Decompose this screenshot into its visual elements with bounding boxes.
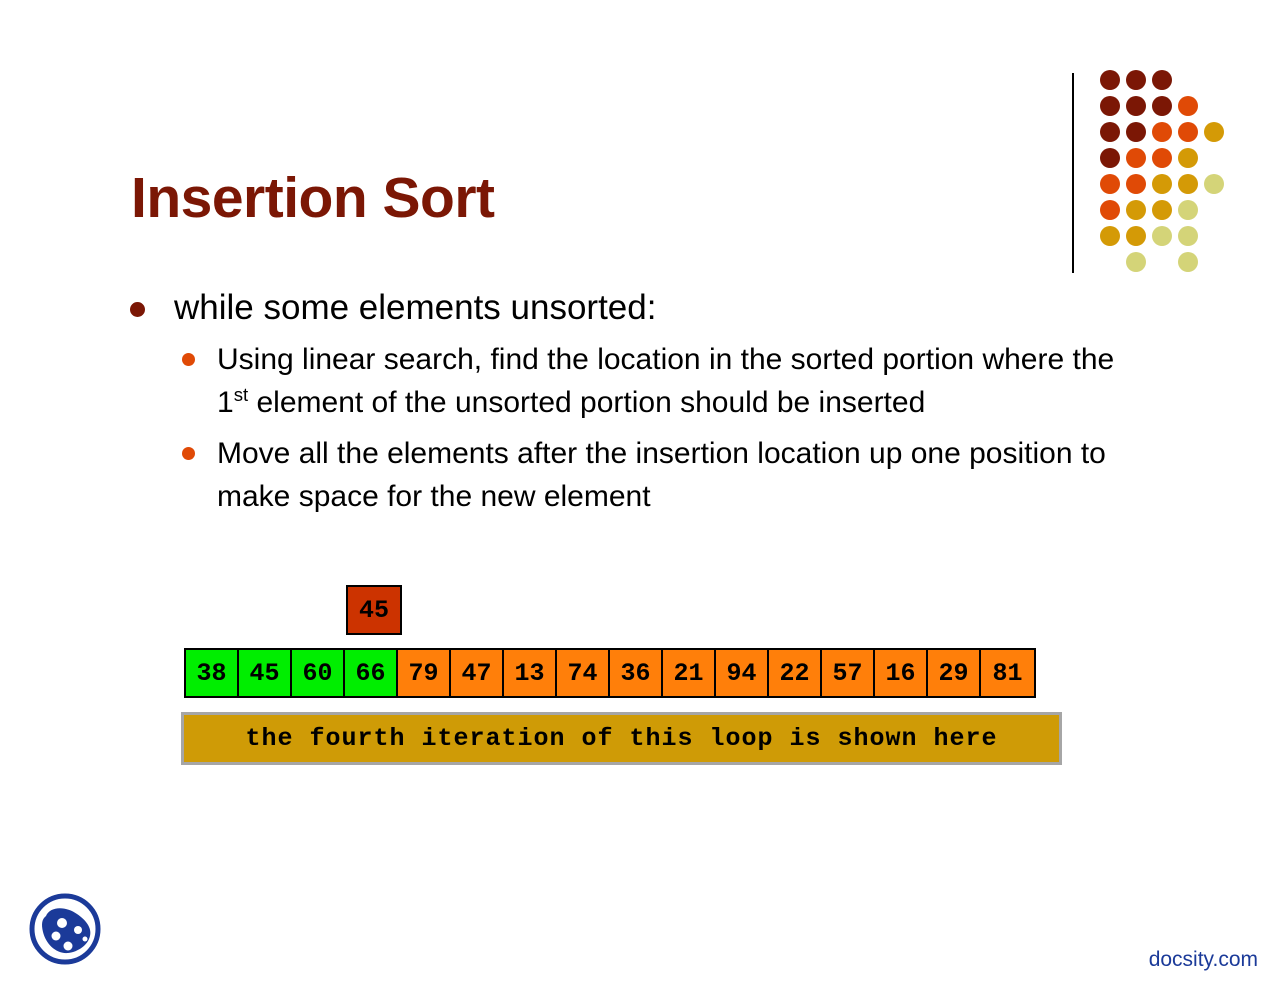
motif-dot (1152, 226, 1172, 246)
array-cell: 36 (610, 650, 663, 696)
motif-dot (1178, 200, 1198, 220)
motif-dot (1100, 148, 1120, 168)
motif-dot (1152, 70, 1172, 90)
bullet-text-part-2: element of the unsorted portion should b… (248, 386, 925, 419)
motif-dot (1126, 200, 1146, 220)
bullet-text: while some elements unsorted: (174, 288, 656, 327)
motif-dot (1152, 96, 1172, 116)
motif-dot (1178, 96, 1198, 116)
array-cell: 21 (663, 650, 716, 696)
array-cell: 81 (981, 650, 1034, 696)
array-cell: 66 (345, 650, 398, 696)
array-cell: 22 (769, 650, 822, 696)
array-cell: 57 (822, 650, 875, 696)
motif-dot (1126, 252, 1146, 272)
motif-dot (1178, 252, 1198, 272)
docsity-logo-icon (26, 890, 104, 968)
motif-dot (1152, 174, 1172, 194)
motif-dot (1152, 200, 1172, 220)
vertical-rule (1072, 73, 1074, 273)
array-cell: 47 (451, 650, 504, 696)
motif-dot (1152, 122, 1172, 142)
array-cell: 74 (557, 650, 610, 696)
page-title: Insertion Sort (131, 165, 495, 231)
bullet-list: while some elements unsorted: Using line… (120, 286, 1130, 518)
array-cell: 16 (875, 650, 928, 696)
motif-dot (1178, 122, 1198, 142)
motif-dot (1100, 96, 1120, 116)
array-cell: 94 (716, 650, 769, 696)
motif-dot (1126, 174, 1146, 194)
array-cell: 60 (292, 650, 345, 696)
motif-dot (1100, 174, 1120, 194)
motif-dot (1152, 148, 1172, 168)
docsity-url-label: docsity.com (1149, 948, 1258, 972)
motif-dot (1204, 122, 1224, 142)
motif-dot (1178, 226, 1198, 246)
motif-dot (1100, 226, 1120, 246)
insertion-key-box: 45 (346, 585, 402, 635)
array-cell: 79 (398, 650, 451, 696)
bullet-marker-icon (182, 447, 195, 460)
motif-dot (1178, 174, 1198, 194)
motif-dot (1178, 148, 1198, 168)
bullet-marker-icon (130, 302, 145, 317)
bullet-item-level1: while some elements unsorted: (120, 286, 1130, 330)
bullet-marker-icon (182, 353, 195, 366)
array-cell: 29 (928, 650, 981, 696)
motif-dot (1100, 200, 1120, 220)
array-cell: 13 (504, 650, 557, 696)
motif-dot (1126, 70, 1146, 90)
motif-dot (1126, 148, 1146, 168)
motif-dot (1204, 174, 1224, 194)
motif-dot (1100, 122, 1120, 142)
ordinal-suffix: st (234, 384, 248, 405)
decorative-dot-motif (1072, 70, 1222, 280)
motif-dot (1126, 226, 1146, 246)
motif-dot (1126, 96, 1146, 116)
bullet-item-level2: Move all the elements after the insertio… (120, 432, 1130, 518)
motif-dot (1100, 70, 1120, 90)
bullet-text: Move all the elements after the insertio… (217, 437, 1106, 513)
array-diagram: 38456066794713743621942257162981 (184, 648, 1036, 698)
array-cell: 45 (239, 650, 292, 696)
motif-dot (1126, 122, 1146, 142)
bullet-item-level2: Using linear search, find the location i… (120, 338, 1130, 424)
array-cell: 38 (186, 650, 239, 696)
figure-caption: the fourth iteration of this loop is sho… (181, 712, 1062, 765)
